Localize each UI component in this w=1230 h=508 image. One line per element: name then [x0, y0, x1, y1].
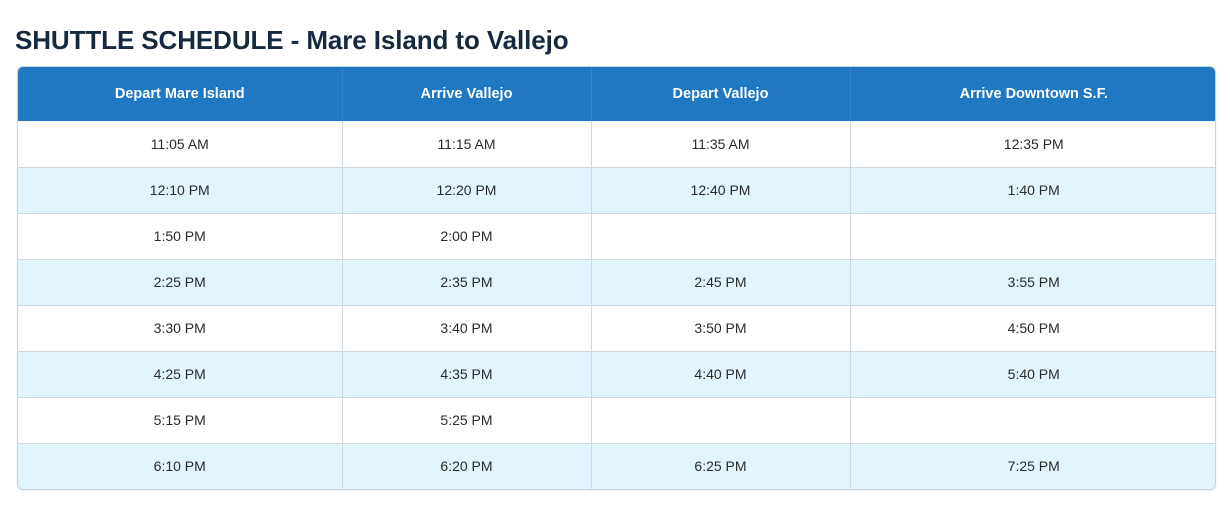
- table-cell: 12:10 PM: [18, 167, 342, 213]
- table-cell: 3:30 PM: [18, 305, 342, 351]
- table-header: Depart Mare Island Arrive Vallejo Depart…: [18, 67, 1216, 121]
- table-cell: 5:25 PM: [342, 397, 591, 443]
- table-cell: 11:05 AM: [18, 121, 342, 167]
- table-cell-empty: [850, 397, 1216, 443]
- table-cell: 12:35 PM: [850, 121, 1216, 167]
- schedule-table: Depart Mare Island Arrive Vallejo Depart…: [18, 67, 1216, 489]
- schedule-table-container: Depart Mare Island Arrive Vallejo Depart…: [17, 66, 1216, 490]
- table-row: 5:15 PM 5:25 PM: [18, 397, 1216, 443]
- column-header-arrive-downtown-sf: Arrive Downtown S.F.: [850, 67, 1216, 121]
- table-cell: 5:40 PM: [850, 351, 1216, 397]
- table-cell: 2:25 PM: [18, 259, 342, 305]
- table-cell: 7:25 PM: [850, 443, 1216, 489]
- table-cell: 3:50 PM: [591, 305, 850, 351]
- table-cell-empty: [591, 213, 850, 259]
- table-cell: 11:35 AM: [591, 121, 850, 167]
- table-row: 11:05 AM 11:15 AM 11:35 AM 12:35 PM: [18, 121, 1216, 167]
- table-cell: 6:10 PM: [18, 443, 342, 489]
- column-header-arrive-vallejo: Arrive Vallejo: [342, 67, 591, 121]
- table-cell: 3:40 PM: [342, 305, 591, 351]
- table-body: 11:05 AM 11:15 AM 11:35 AM 12:35 PM 12:1…: [18, 121, 1216, 489]
- table-cell: 3:55 PM: [850, 259, 1216, 305]
- table-row: 4:25 PM 4:35 PM 4:40 PM 5:40 PM: [18, 351, 1216, 397]
- table-cell: 4:40 PM: [591, 351, 850, 397]
- table-cell-empty: [850, 213, 1216, 259]
- table-cell: 4:35 PM: [342, 351, 591, 397]
- table-row: 12:10 PM 12:20 PM 12:40 PM 1:40 PM: [18, 167, 1216, 213]
- table-cell: 1:50 PM: [18, 213, 342, 259]
- shuttle-schedule-page: SHUTTLE SCHEDULE - Mare Island to Vallej…: [0, 0, 1230, 508]
- table-cell: 4:50 PM: [850, 305, 1216, 351]
- table-row: 2:25 PM 2:35 PM 2:45 PM 3:55 PM: [18, 259, 1216, 305]
- table-cell-empty: [591, 397, 850, 443]
- table-cell: 6:20 PM: [342, 443, 591, 489]
- column-header-depart-vallejo: Depart Vallejo: [591, 67, 850, 121]
- table-cell: 4:25 PM: [18, 351, 342, 397]
- column-header-depart-mare-island: Depart Mare Island: [18, 67, 342, 121]
- table-cell: 6:25 PM: [591, 443, 850, 489]
- table-cell: 5:15 PM: [18, 397, 342, 443]
- table-cell: 2:45 PM: [591, 259, 850, 305]
- table-cell: 12:20 PM: [342, 167, 591, 213]
- table-cell: 2:00 PM: [342, 213, 591, 259]
- table-row: 3:30 PM 3:40 PM 3:50 PM 4:50 PM: [18, 305, 1216, 351]
- table-row: 1:50 PM 2:00 PM: [18, 213, 1216, 259]
- table-row: 6:10 PM 6:20 PM 6:25 PM 7:25 PM: [18, 443, 1216, 489]
- table-cell: 2:35 PM: [342, 259, 591, 305]
- table-cell: 1:40 PM: [850, 167, 1216, 213]
- page-title: SHUTTLE SCHEDULE - Mare Island to Vallej…: [15, 25, 569, 56]
- table-cell: 12:40 PM: [591, 167, 850, 213]
- header-row: Depart Mare Island Arrive Vallejo Depart…: [18, 67, 1216, 121]
- table-cell: 11:15 AM: [342, 121, 591, 167]
